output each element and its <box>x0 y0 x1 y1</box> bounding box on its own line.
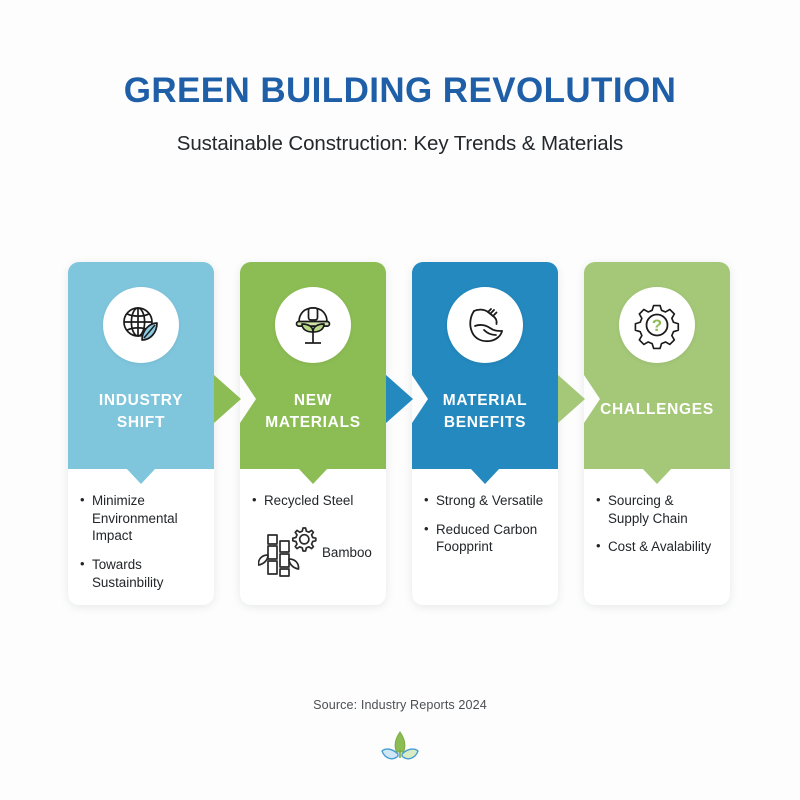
bullet-list: Minimize Environmental Impact Towards Su… <box>80 492 202 591</box>
hardhat-plant-icon <box>275 287 351 363</box>
process-flow: INDUSTRY SHIFT Minimize Environmental Im… <box>68 262 732 607</box>
card-header-material-benefits: MATERIAL BENEFITS <box>412 262 558 469</box>
flow-arrow-3 <box>558 375 585 423</box>
list-item: Sourcing & Supply Chain <box>596 492 718 527</box>
page-subtitle: Sustainable Construction: Key Trends & M… <box>0 132 800 156</box>
card-body-industry-shift: Minimize Environmental Impact Towards Su… <box>68 474 214 612</box>
gear-question-icon: ? <box>619 287 695 363</box>
svg-text:?: ? <box>652 316 662 335</box>
page-footer: Source: Industry Reports 2024 <box>0 698 800 773</box>
card-label-line1: INDUSTRY <box>99 392 183 409</box>
bamboo-row: Bamboo <box>252 519 374 586</box>
card-label-industry-shift: INDUSTRY SHIFT <box>68 390 214 435</box>
bullet-list: Recycled Steel <box>252 492 374 510</box>
bamboo-gear-icon <box>258 519 320 586</box>
bullet-list: Strong & Versatile Reduced Carbon Fooppr… <box>424 492 546 556</box>
flow-card-challenges[interactable]: ? CHALLENGES Sourcing & Supply Chain Cos… <box>584 262 730 605</box>
flexed-bicep-icon <box>447 287 523 363</box>
card-header-industry-shift: INDUSTRY SHIFT <box>68 262 214 469</box>
flow-card-industry-shift[interactable]: INDUSTRY SHIFT Minimize Environmental Im… <box>68 262 214 605</box>
page-title: GREEN BUILDING REVOLUTION <box>0 72 800 111</box>
card-label-line1: MATERIAL <box>443 392 528 409</box>
list-item: Towards Sustainbility <box>80 556 202 591</box>
card-body-new-materials: Recycled Steel <box>240 474 386 596</box>
bamboo-label: Bamboo <box>322 545 372 560</box>
card-label-line2: BENEFITS <box>444 414 526 431</box>
flow-arrow-2 <box>386 375 413 423</box>
card-label-material-benefits: MATERIAL BENEFITS <box>412 390 558 435</box>
card-label-line1: CHALLENGES <box>600 401 714 418</box>
list-item: Reduced Carbon Foopprint <box>424 521 546 556</box>
three-leaf-sprout-logo <box>0 728 800 773</box>
card-label-line2: MATERIALS <box>265 414 361 431</box>
flow-card-material-benefits[interactable]: MATERIAL BENEFITS Strong & Versatile Red… <box>412 262 558 605</box>
page-header: GREEN BUILDING REVOLUTION Sustainable Co… <box>0 0 800 156</box>
card-header-challenges: ? CHALLENGES <box>584 262 730 469</box>
globe-leaf-icon <box>103 287 179 363</box>
card-label-line2: SHIFT <box>117 414 165 431</box>
source-text: Source: Industry Reports 2024 <box>0 698 800 712</box>
list-item: Minimize Environmental Impact <box>80 492 202 545</box>
card-body-challenges: Sourcing & Supply Chain Cost & Avalabili… <box>584 474 730 577</box>
list-item: Strong & Versatile <box>424 492 546 510</box>
list-item: Cost & Avalability <box>596 538 718 556</box>
card-label-challenges: CHALLENGES <box>584 399 730 421</box>
card-body-material-benefits: Strong & Versatile Reduced Carbon Fooppr… <box>412 474 558 577</box>
flow-card-new-materials[interactable]: NEW MATERIALS Recycled Steel <box>240 262 386 605</box>
list-item: Recycled Steel <box>252 492 374 510</box>
bullet-list: Sourcing & Supply Chain Cost & Avalabili… <box>596 492 718 556</box>
card-label-new-materials: NEW MATERIALS <box>240 390 386 435</box>
card-label-line1: NEW <box>294 392 332 409</box>
flow-arrow-1 <box>214 375 241 423</box>
card-header-new-materials: NEW MATERIALS <box>240 262 386 469</box>
